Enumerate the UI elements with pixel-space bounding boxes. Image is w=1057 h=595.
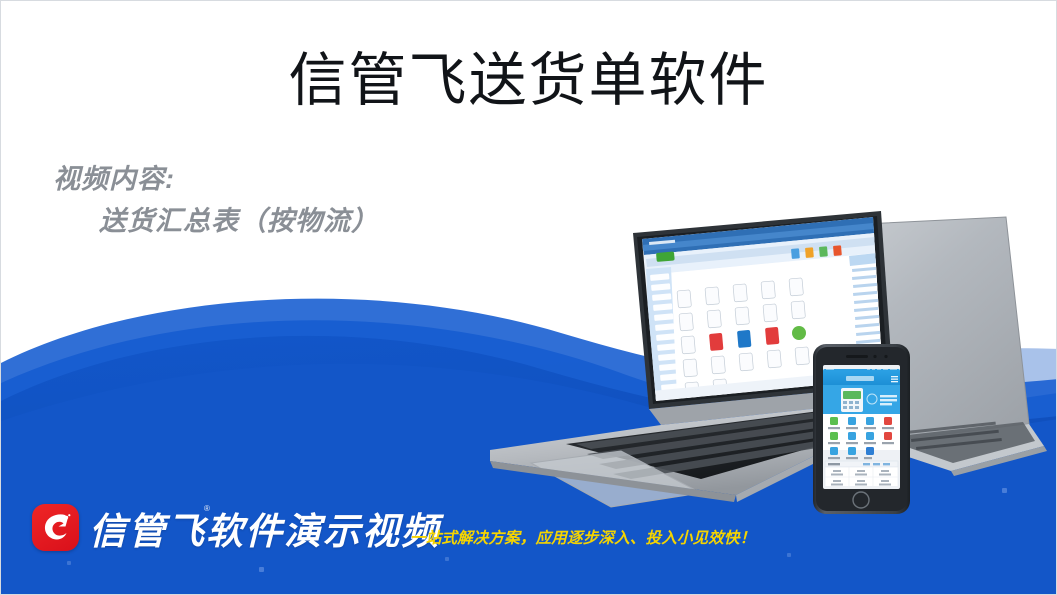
banner-brand-name: 信管飞软件演示视频 (89, 501, 440, 555)
page-title: 信管飞送货单软件 (1, 46, 1056, 116)
phone-tab-bar (823, 480, 900, 489)
registered-mark: ® (204, 504, 210, 513)
xinguanfei-bird-logo-icon (32, 504, 79, 551)
video-content-label: 视频内容: (53, 164, 175, 194)
presentation-slide: 信管飞送货单软件 视频内容: 送货汇总表（按物流） 信管飞软件演示视频 ® 一站… (0, 0, 1057, 595)
banner-tagline: 一站式解决方案，应用逐步深入、投入小见效快！ (410, 526, 755, 548)
video-content-topic: 送货汇总表（按物流） (53, 201, 379, 243)
video-content-block: 视频内容: 送货汇总表（按物流） (53, 159, 379, 243)
smartphone (813, 344, 910, 514)
